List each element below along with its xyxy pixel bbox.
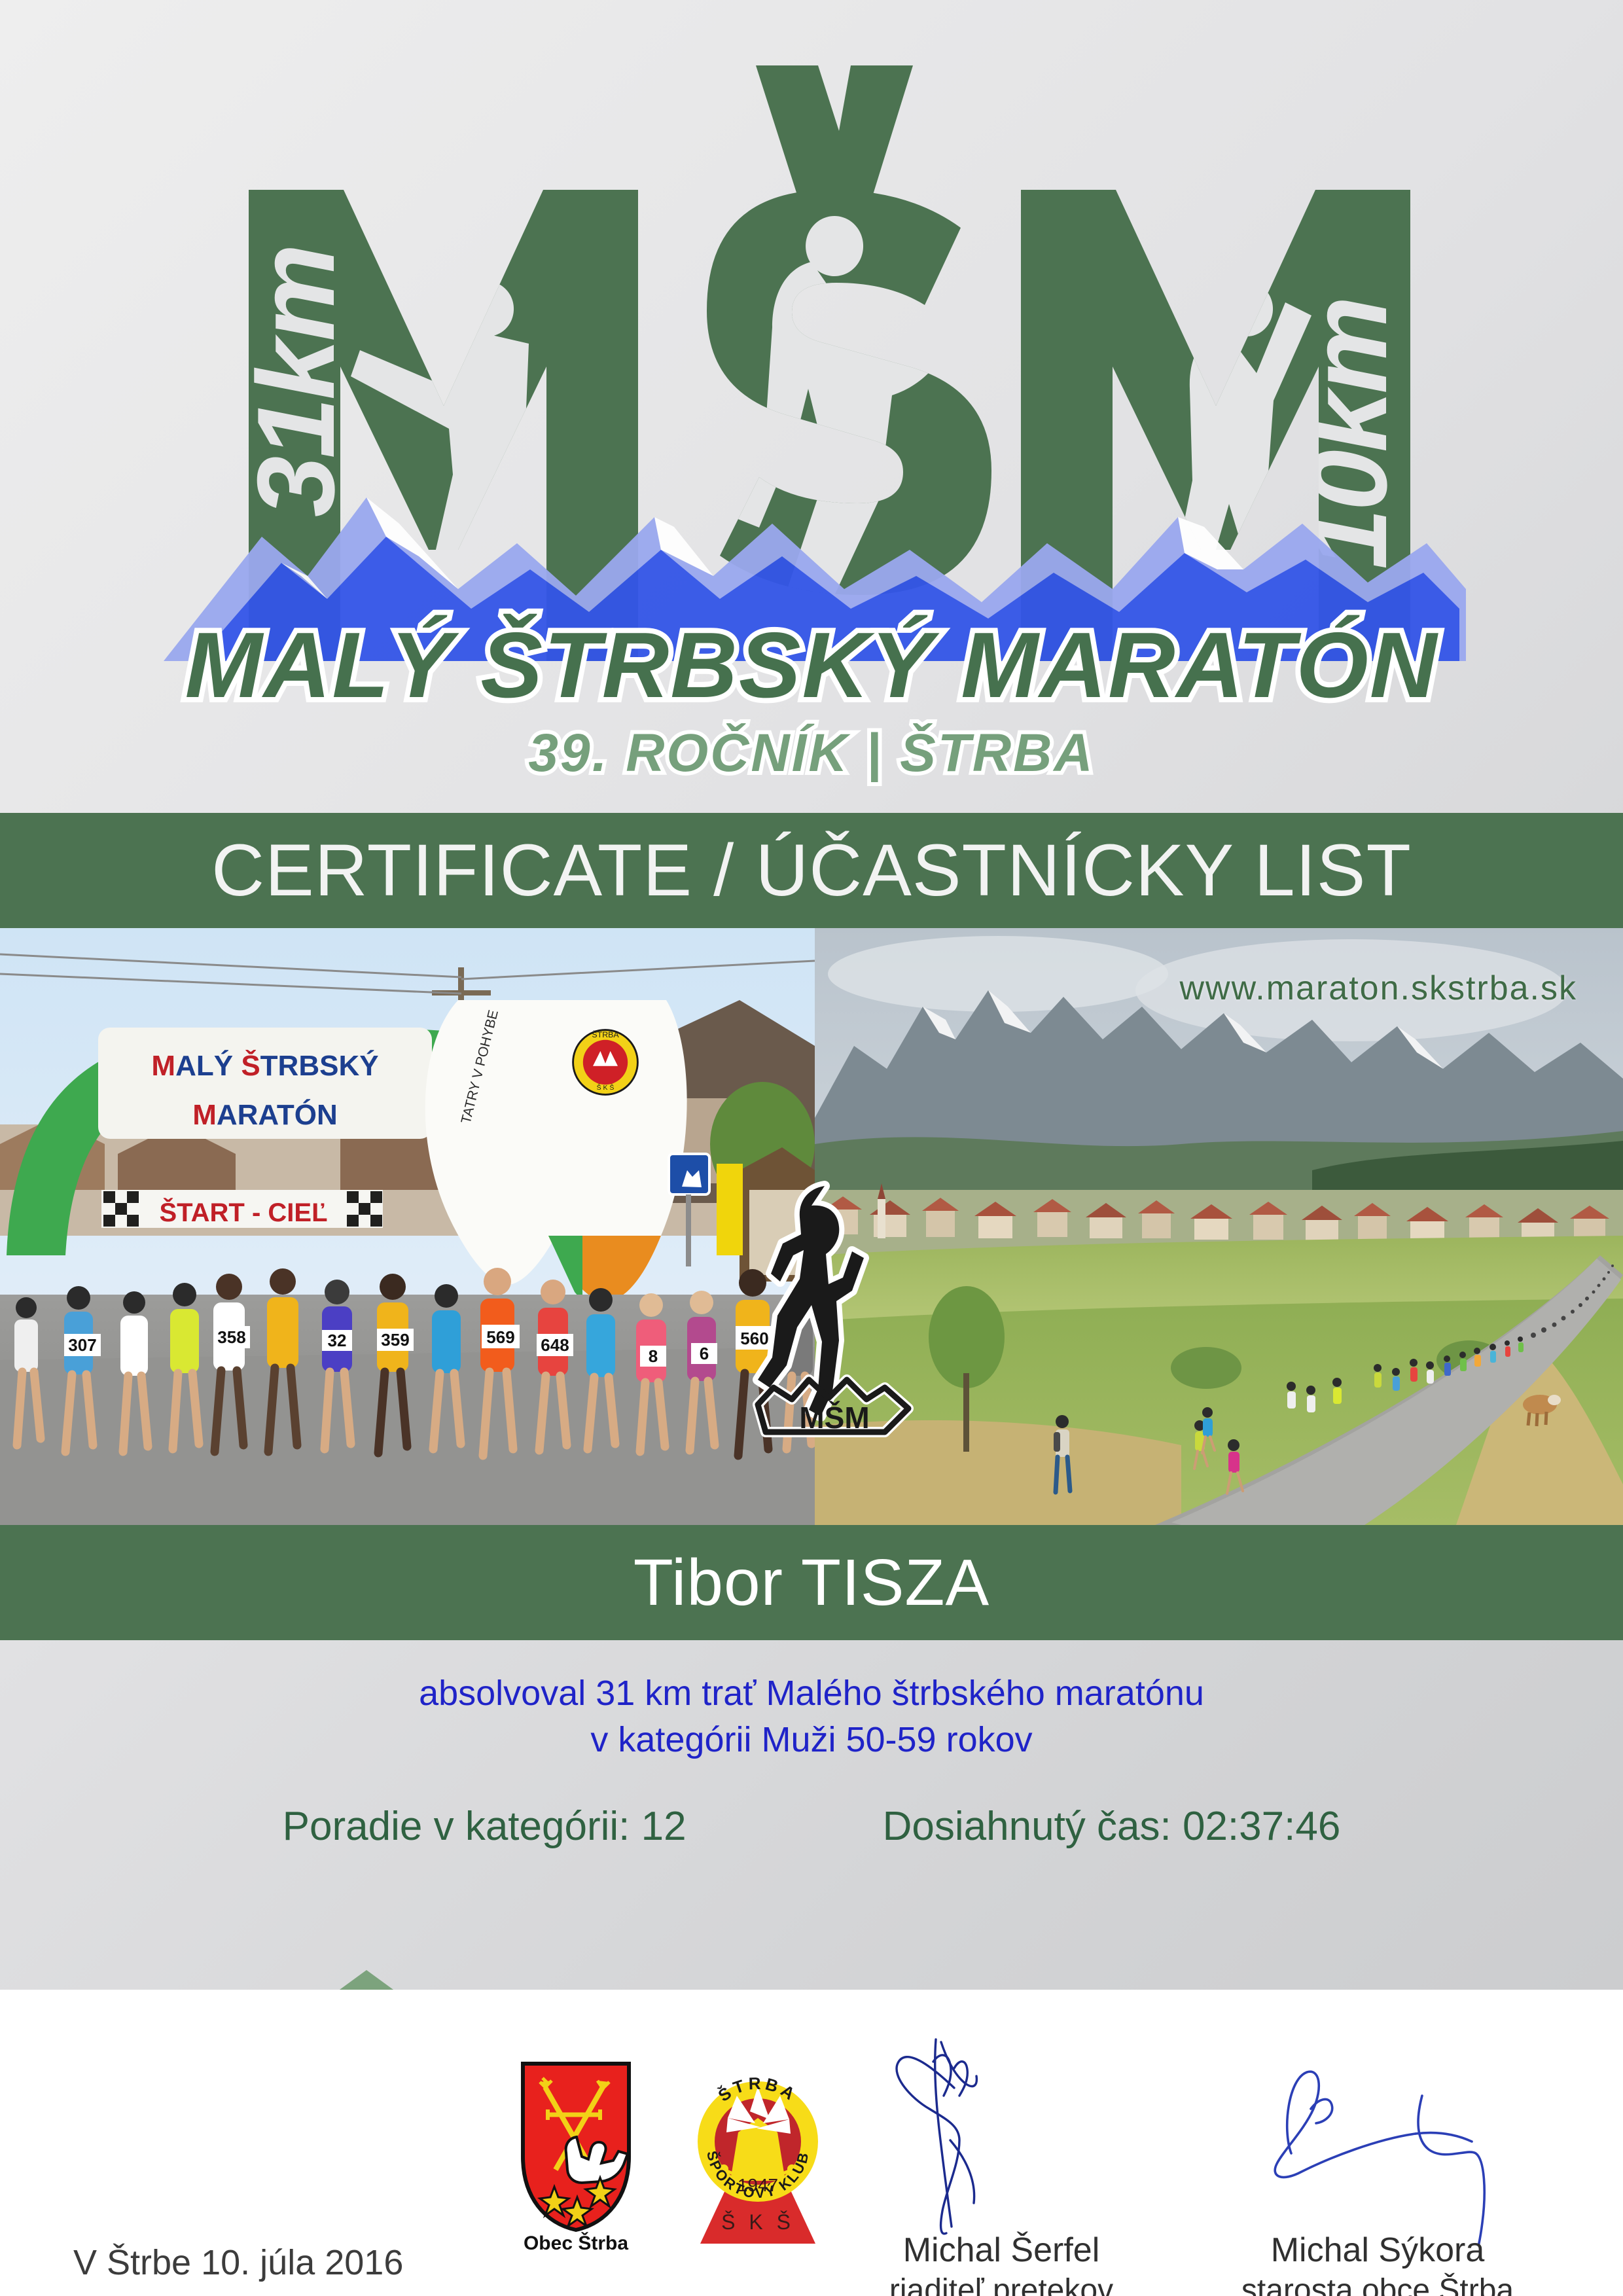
runner-name-band: Tibor TISZA [0,1525,1623,1640]
mayor-role: starosta obce Štrba [1214,2274,1541,2296]
photo-strip: MALÝ ŠTRBSKÝ MARATÓN ŠTART - CIEĽ TATRY … [0,928,1623,1525]
svg-text:ŠTRBA: ŠTRBA [592,1030,619,1039]
director-role: riaditeľ pretekov [838,2274,1165,2296]
time-result: Dosiahnutý čas: 02:37:46 [883,1806,1341,1847]
place-and-date: V Štrbe 10. júla 2016 [73,2245,403,2280]
rank-result: Poradie v kategórii: 12 [283,1806,687,1847]
obec-strba-coat-of-arms: Obec Štrba [514,2058,638,2255]
website-url[interactable]: www.maraton.skstrba.sk [1180,969,1578,1008]
svg-text:359: 359 [381,1330,409,1350]
landscape-photo: www.maraton.skstrba.sk [815,928,1623,1525]
caron-accent [756,65,913,203]
sks-initials: Š K Š [721,2210,794,2234]
event-name-text: MALÝ ŠTRBSKÝ MARATÓN [185,613,1438,717]
certificate-title-band: CERTIFICATE / ÚČASTNÍCKY LIST [0,813,1623,928]
achievement-line-2: v kategórii Muži 50-59 rokov [0,1717,1623,1763]
svg-text:6: 6 [700,1344,709,1363]
rank-value: 12 [641,1804,687,1849]
rank-label: Poradie v kategórii: [283,1804,630,1849]
svg-text:648: 648 [541,1335,569,1355]
svg-text:8: 8 [649,1346,658,1366]
svg-text:560: 560 [740,1329,768,1348]
sks-sports-club-logo: 1947 ŠTRBA ŠPORTOVÝ KLUB Š K Š [687,2055,828,2251]
certificate-page: 31km 10km [0,0,1623,2296]
obec-crest-caption: Obec Štrba [524,2232,628,2254]
certificate-title: CERTIFICATE / ÚČASTNÍCKY LIST [211,834,1412,907]
start-line-photo-graphic: MALÝ ŠTRBSKÝ MARATÓN ŠTART - CIEĽ TATRY … [0,928,815,1525]
achievement-line-1: absolvoval 31 km trať Malého štrbského m… [0,1670,1623,1717]
edition-line-text: 39. ROČNÍK | ŠTRBA [528,723,1094,783]
svg-text:569: 569 [486,1327,514,1347]
landscape-photo-graphic [815,928,1623,1525]
svg-text:32: 32 [328,1331,347,1350]
mayor-name: Michal Sýkora [1214,2232,1541,2269]
start-line-photo: MALÝ ŠTRBSKÝ MARATÓN ŠTART - CIEĽ TATRY … [0,928,815,1525]
event-logo-block: 31km 10km [0,0,1623,813]
svg-text:31km: 31km [234,246,357,517]
director-name: Michal Šerfel [838,2232,1165,2269]
arch-line2: MARATÓN [192,1098,338,1131]
results-row: Poradie v kategórii: 12 Dosiahnutý čas: … [0,1806,1623,1847]
msm-logo-graphic: 31km 10km [0,0,1623,813]
runner-name: Tibor TISZA [633,1550,990,1615]
svg-text:Š K Š: Š K Š [597,1083,615,1092]
time-label: Dosiahnutý čas: [883,1804,1171,1849]
achievement-text: absolvoval 31 km trať Malého štrbského m… [0,1670,1623,1764]
svg-text:358: 358 [217,1327,245,1347]
arch-line1: MALÝ ŠTRBSKÝ [151,1049,378,1082]
svg-text:307: 307 [68,1335,96,1355]
time-value: 02:37:46 [1183,1804,1340,1849]
arch-banner-text: ŠTART - CIEĽ [159,1197,327,1227]
